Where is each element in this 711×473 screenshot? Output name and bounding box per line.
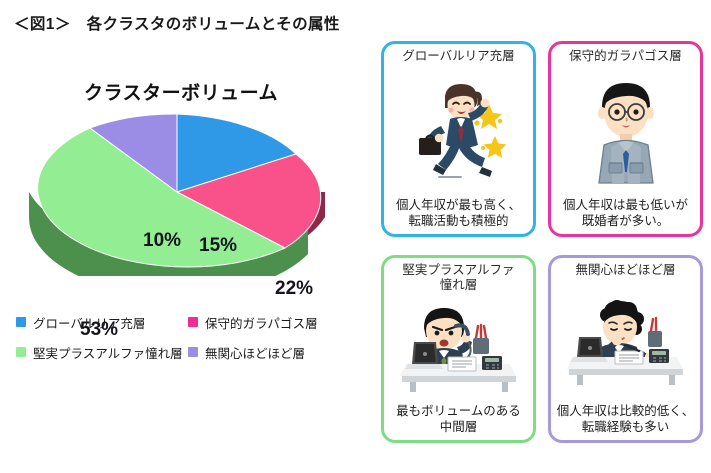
busy-worker-phone-icon bbox=[384, 293, 533, 403]
cluster-card-hoshuteki-galapagos[interactable]: 保守的ガラパゴス層 bbox=[548, 41, 703, 237]
running-businessman-icon bbox=[384, 64, 533, 197]
legend-swatch-icon-0 bbox=[16, 317, 26, 327]
legend-swatch-icon-1 bbox=[188, 317, 198, 327]
page-title: ＜図1＞ 各クラスタのボリュームとその属性 bbox=[14, 12, 340, 34]
uniform-worker-icon bbox=[551, 64, 700, 197]
cluster-card-kenjitsu-plus-alpha[interactable]: 堅実プラスアルファ 憧れ層 bbox=[381, 255, 536, 443]
legend-label-2: 堅実プラスアルファ憧れ層 bbox=[33, 343, 183, 362]
card-title-2: 堅実プラスアルファ 憧れ層 bbox=[398, 258, 518, 293]
card-caption-1: 個人年収は最も低いが 既婚者が多い。 bbox=[561, 197, 690, 234]
legend-item-mukanshin-hodohodo[interactable]: 無関心ほどほど層 bbox=[188, 343, 356, 362]
cluster-card-global-rear-juu[interactable]: グローバルリア充層 bbox=[381, 41, 536, 237]
chart-legend: グローバルリア充層 保守的ガラパゴス層 堅実プラスアルファ憧れ層 無関心ほどほど… bbox=[16, 307, 356, 367]
pie-value-label-1: 22% bbox=[275, 278, 313, 300]
card-caption-0: 個人年収が最も高く、 転職活動も積極的 bbox=[394, 197, 523, 234]
legend-swatch-icon-2 bbox=[16, 347, 26, 357]
bored-worker-icon bbox=[551, 278, 700, 403]
card-title-3: 無関心ほどほど層 bbox=[571, 258, 679, 278]
legend-swatch-icon-3 bbox=[188, 347, 198, 357]
legend-item-kenjitsu-plus-alpha[interactable]: 堅実プラスアルファ憧れ層 bbox=[16, 343, 188, 362]
chart-title: クラスターボリューム bbox=[0, 78, 362, 105]
cluster-card-mukanshin-hodohodo[interactable]: 無関心ほどほど層 bbox=[548, 255, 703, 443]
legend-item-global-rear-juu[interactable]: グローバルリア充層 bbox=[16, 313, 188, 332]
legend-label-3: 無関心ほどほど層 bbox=[205, 343, 305, 362]
pie-chart: 15% 22% 53% 10% bbox=[20, 114, 335, 276]
card-title-0: グローバルリア充層 bbox=[398, 44, 518, 64]
card-caption-2: 最もボリュームのある 中間層 bbox=[394, 403, 523, 440]
card-title-1: 保守的ガラパゴス層 bbox=[565, 44, 686, 64]
legend-label-0: グローバルリア充層 bbox=[33, 313, 145, 332]
pie-value-label-3: 10% bbox=[143, 230, 181, 252]
legend-item-hoshuteki-galapagos[interactable]: 保守的ガラパゴス層 bbox=[188, 313, 356, 332]
pie-value-label-0: 15% bbox=[199, 235, 237, 257]
cluster-card-grid: グローバルリア充層 bbox=[381, 41, 703, 461]
card-caption-3: 個人年収は比較的低く、 転職経験も多い bbox=[555, 403, 697, 440]
legend-label-1: 保守的ガラパゴス層 bbox=[205, 313, 318, 332]
